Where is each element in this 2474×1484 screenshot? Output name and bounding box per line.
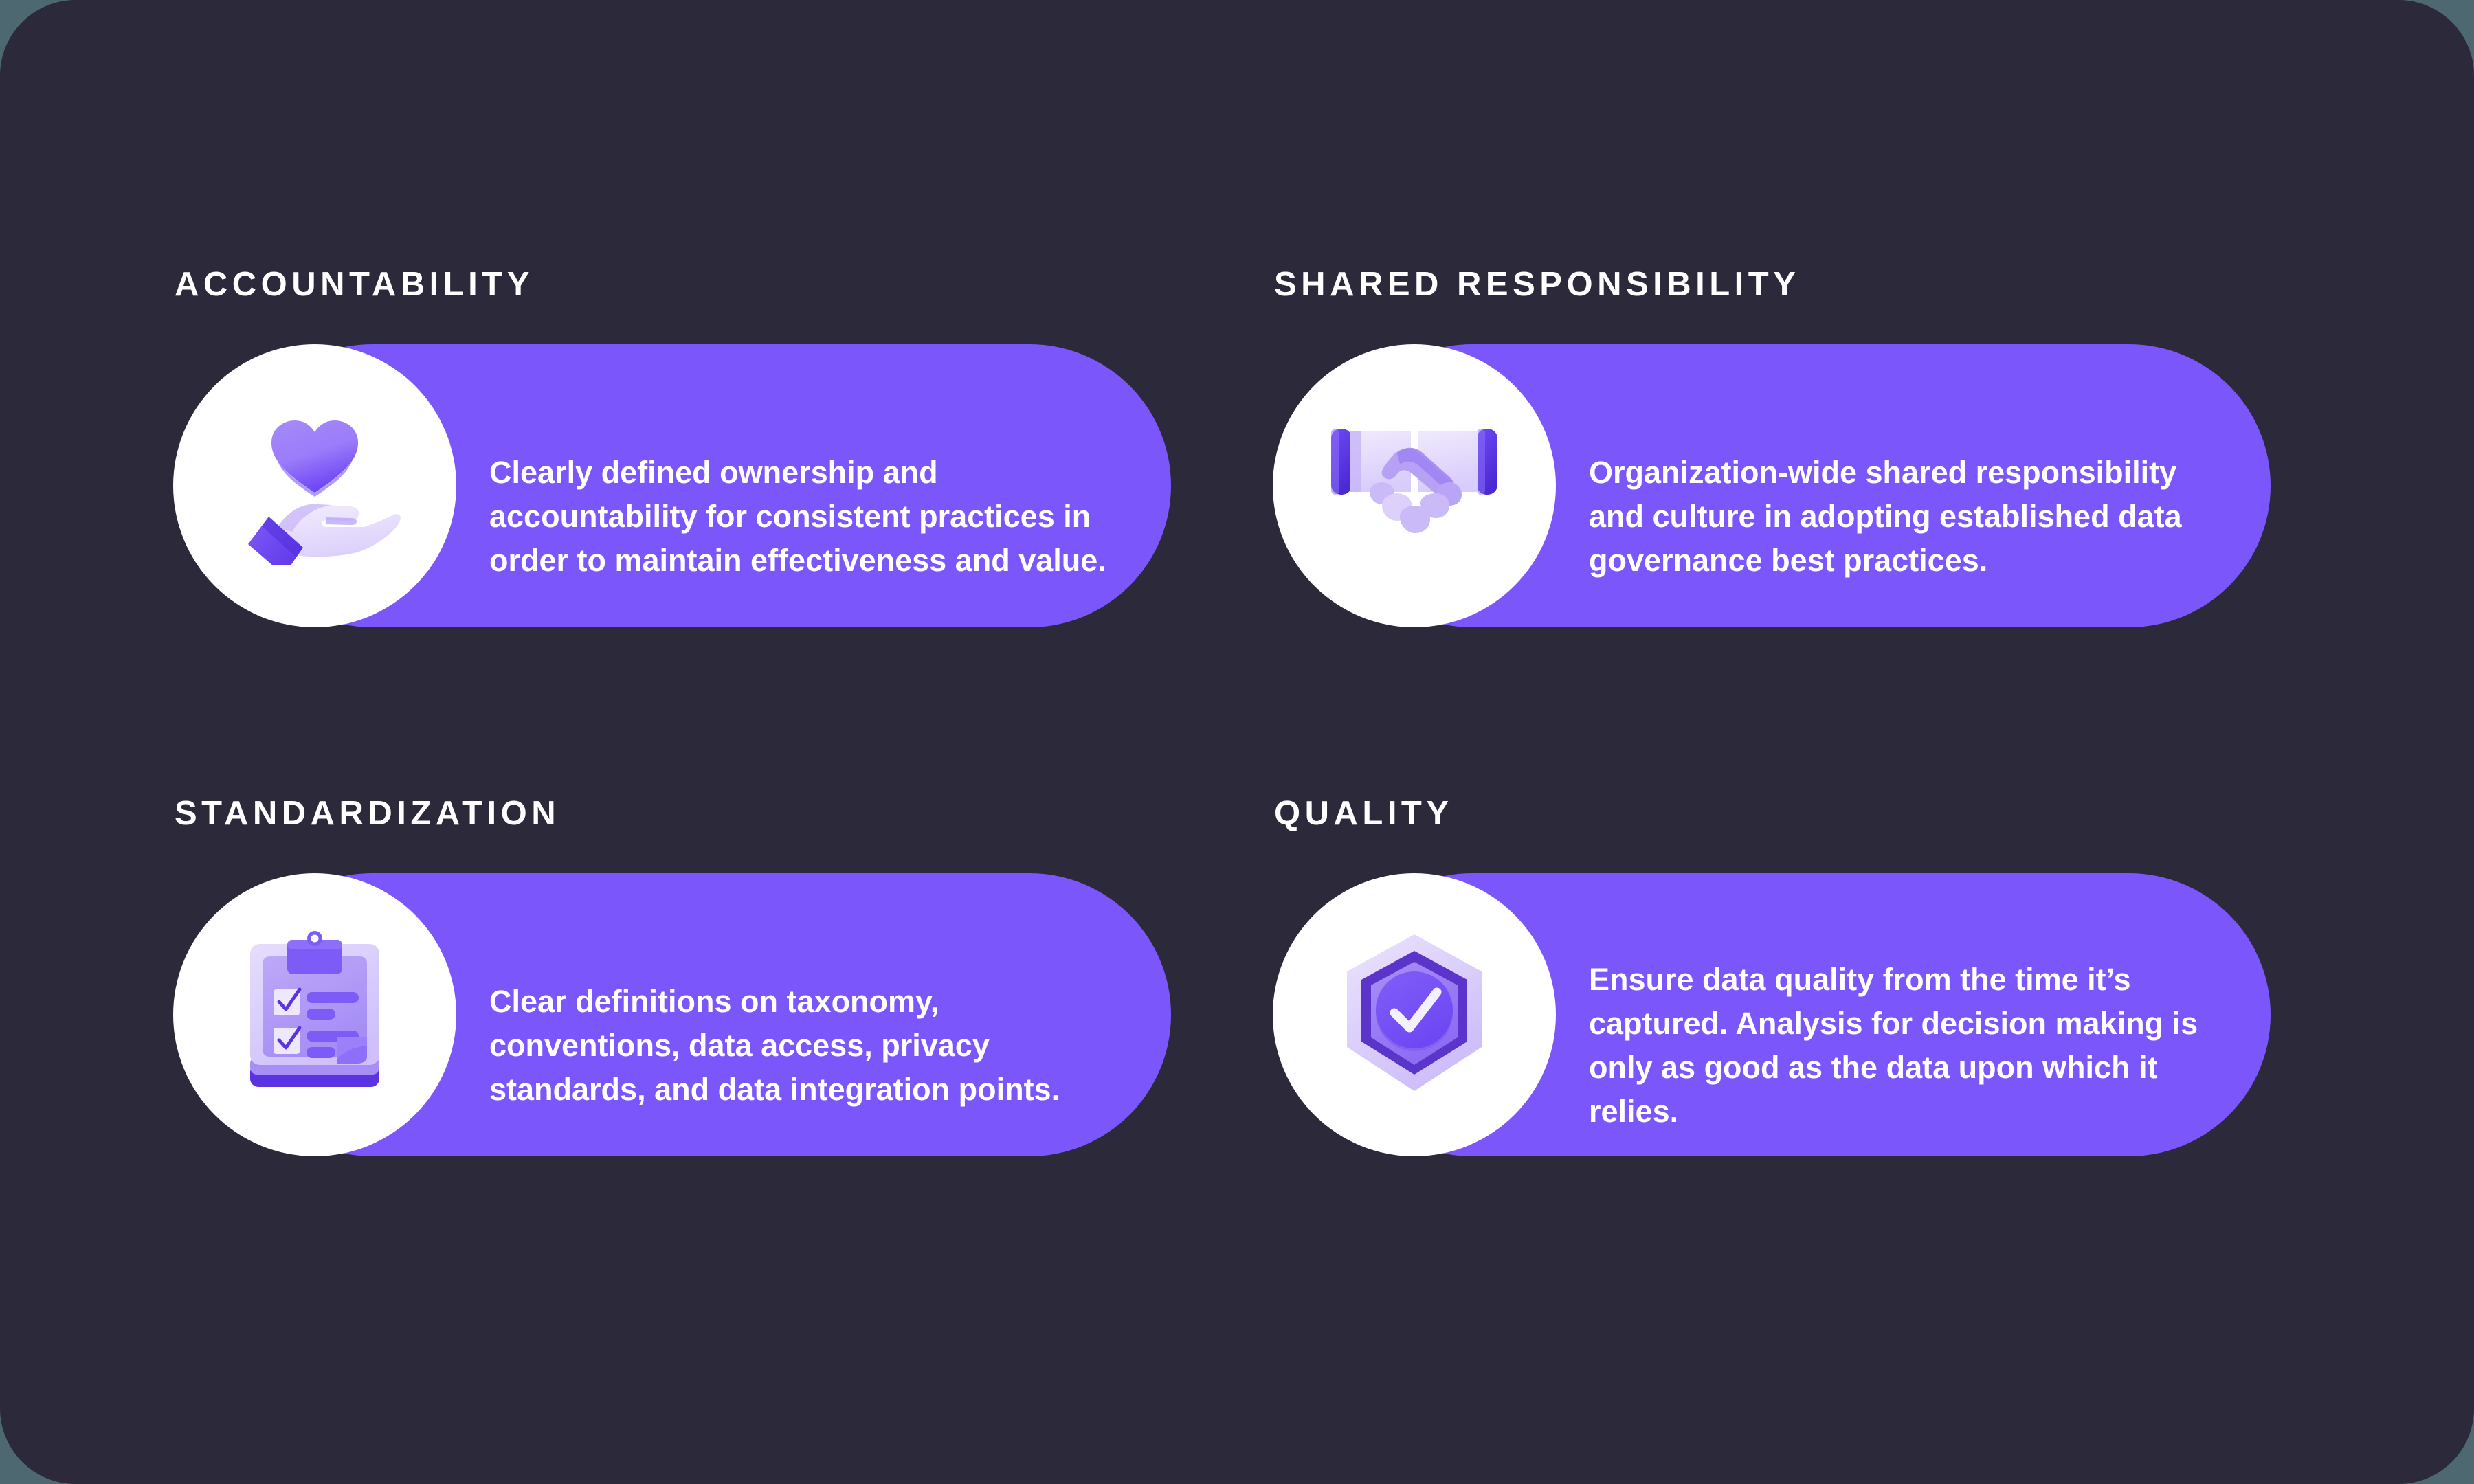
card-body-text: Ensure data quality from the time it’s c… — [1589, 958, 2207, 1134]
principles-grid: ACCOUNTABILITY — [173, 268, 2304, 1326]
card-standardization: STANDARDIZATION — [173, 797, 1273, 1326]
icon-circle — [1273, 873, 1556, 1156]
card-title: ACCOUNTABILITY — [175, 268, 1273, 302]
icon-circle — [173, 873, 456, 1156]
card-title: QUALITY — [1274, 797, 2372, 831]
card-body-text: Organization-wide shared responsibility … — [1589, 451, 2207, 583]
card-pill[interactable]: Organization-wide shared responsibility … — [1273, 344, 2271, 627]
card-title: STANDARDIZATION — [175, 797, 1273, 831]
shield-check-icon — [1335, 929, 1493, 1101]
clipboard-checklist-icon — [241, 929, 389, 1101]
card-pill[interactable]: Clearly defined ownership and accountabi… — [173, 344, 1171, 627]
card-body-text: Clear definitions on taxonomy, conventio… — [489, 980, 1108, 1112]
handshake-icon — [1328, 420, 1500, 551]
card-accountability: ACCOUNTABILITY — [173, 268, 1273, 797]
card-body-text: Clearly defined ownership and accountabi… — [489, 451, 1108, 583]
main-panel: ACCOUNTABILITY — [0, 0, 2474, 1484]
heart-in-hand-icon — [229, 407, 401, 565]
icon-circle — [1273, 344, 1556, 627]
card-quality: QUALITY — [1273, 797, 2372, 1326]
card-pill[interactable]: Ensure data quality from the time it’s c… — [1273, 873, 2271, 1156]
card-title: SHARED RESPONSIBILITY — [1274, 268, 2372, 302]
card-pill[interactable]: Clear definitions on taxonomy, conventio… — [173, 873, 1171, 1156]
icon-circle — [173, 344, 456, 627]
card-shared-responsibility: SHARED RESPONSIBILITY — [1273, 268, 2372, 797]
